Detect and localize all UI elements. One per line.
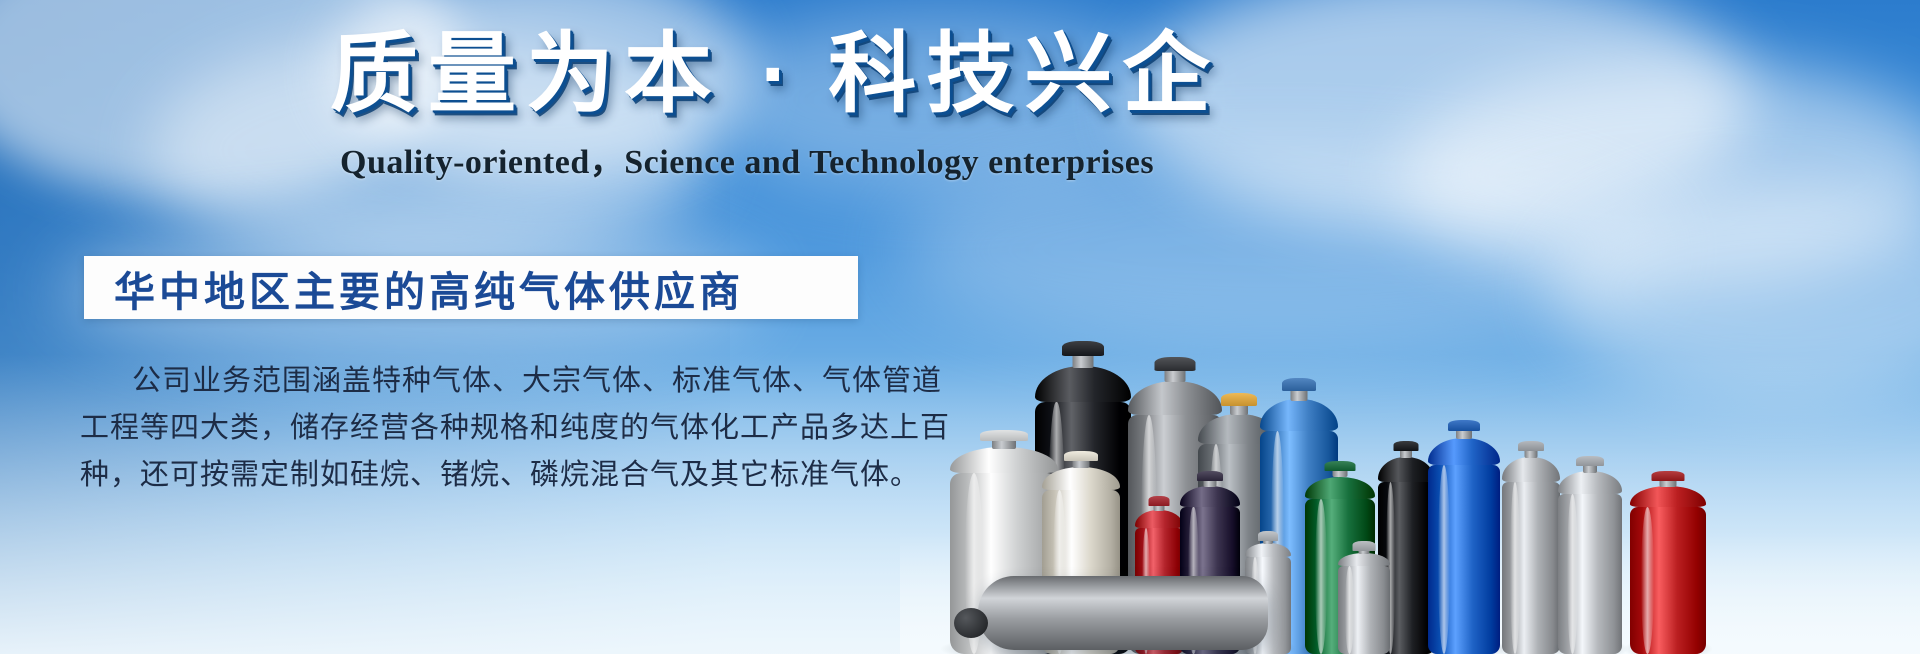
cylinder-cap bbox=[1064, 451, 1098, 461]
lying-cylinder-valve bbox=[954, 608, 988, 638]
cylinder-cap bbox=[1282, 378, 1316, 391]
cylinder-cap bbox=[1576, 456, 1604, 466]
cylinder-highlight bbox=[1510, 482, 1520, 654]
cylinder-cap bbox=[1221, 393, 1257, 406]
cylinder-shoulder bbox=[1305, 477, 1375, 499]
highlight-box: 华中地区主要的高纯气体供应商 bbox=[84, 256, 858, 319]
lying-grey-cylinder bbox=[978, 576, 1268, 650]
banner-headline: 质量为本 · 科技兴企 bbox=[330, 22, 1280, 126]
silver-cylinder-b bbox=[1558, 464, 1622, 654]
cylinder-shoulder bbox=[1630, 486, 1706, 507]
headline-separator-dot: · bbox=[756, 24, 793, 123]
aluminium-short-b bbox=[1338, 549, 1390, 654]
promo-banner: 质量为本 · 科技兴企 Quality-oriented，Science and… bbox=[0, 0, 1920, 654]
cylinder-cap bbox=[1258, 531, 1278, 541]
cylinder-cap bbox=[1394, 441, 1419, 451]
cylinder-shoulder bbox=[1135, 510, 1183, 528]
cylinder-highlight bbox=[1567, 494, 1578, 654]
cylinder-cap bbox=[1155, 357, 1196, 371]
cylinder-shoulder bbox=[1378, 457, 1434, 482]
cylinder-shoulder bbox=[1428, 438, 1500, 465]
cylinder-cap bbox=[980, 430, 1028, 441]
banner-paragraph: 公司业务范围涵盖特种气体、大宗气体、标准气体、气体管道 工程等四大类，储存经营各… bbox=[80, 358, 880, 499]
cylinder-cap bbox=[1353, 541, 1376, 551]
blue-bright-cylinder bbox=[1428, 429, 1500, 654]
gas-cylinder-group bbox=[930, 140, 1920, 654]
red-large-cylinder bbox=[1630, 479, 1706, 654]
cylinder-cap bbox=[1197, 471, 1223, 481]
cylinder-shoulder bbox=[1502, 457, 1560, 482]
cylinder-shoulder bbox=[1338, 553, 1390, 566]
silver-cylinder-a bbox=[1502, 449, 1560, 654]
cylinder-highlight bbox=[1315, 499, 1327, 654]
cylinder-shoulder bbox=[1042, 467, 1120, 490]
headline-part-1: 质量为本 bbox=[330, 24, 722, 123]
paragraph-line: 工程等四大类，储存经营各种规格和纯度的气体化工产品多达上百 bbox=[80, 405, 880, 452]
paragraph-line: 种，还可按需定制如硅烷、锗烷、磷烷混合气及其它标准气体。 bbox=[80, 452, 880, 499]
paragraph-line: 公司业务范围涵盖特种气体、大宗气体、标准气体、气体管道 bbox=[80, 358, 880, 405]
cylinder-cap bbox=[1518, 441, 1544, 451]
headline-part-2: 科技兴企 bbox=[828, 24, 1220, 123]
cylinder-shoulder bbox=[1035, 366, 1131, 402]
cylinder-shoulder bbox=[1180, 486, 1240, 507]
cylinder-shoulder bbox=[1260, 399, 1338, 431]
cylinder-cap bbox=[1325, 461, 1356, 471]
cylinder-shoulder bbox=[1558, 471, 1622, 494]
cylinder-cap bbox=[1652, 471, 1685, 481]
cylinder-cap bbox=[1448, 420, 1480, 431]
cylinder-highlight bbox=[1641, 507, 1654, 654]
cylinder-cap bbox=[1149, 496, 1170, 506]
cylinder-shoulder bbox=[1245, 543, 1291, 557]
cylinder-cap bbox=[1062, 341, 1104, 356]
highlight-box-text: 华中地区主要的高纯气体供应商 bbox=[84, 258, 744, 318]
